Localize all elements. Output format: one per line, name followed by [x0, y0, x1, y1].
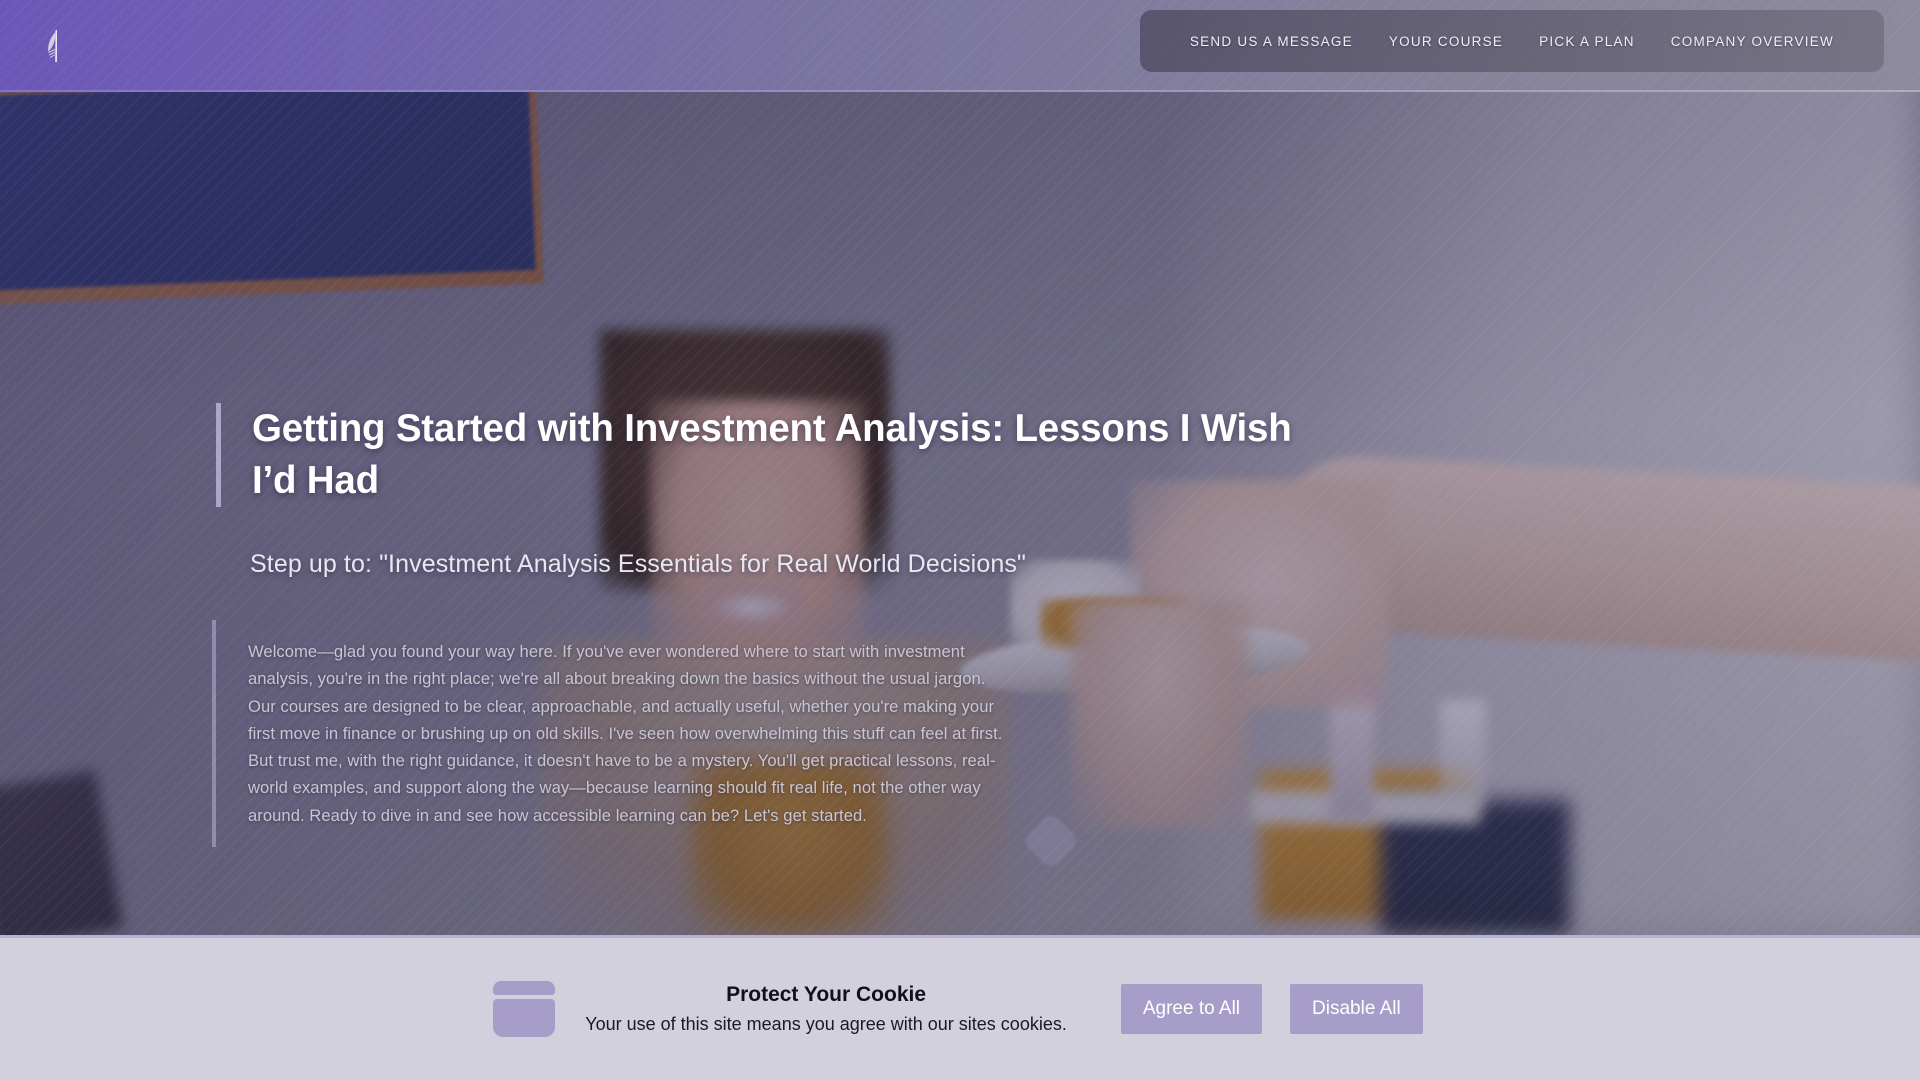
cookie-jar-icon	[493, 981, 555, 1037]
nav-link-pick-a-plan[interactable]: PICK A PLAN	[1521, 34, 1653, 49]
disable-all-button[interactable]: Disable All	[1290, 984, 1423, 1034]
hero-content: Getting Started with Investment Analysis…	[0, 0, 1920, 935]
quill-logo-icon[interactable]	[28, 22, 76, 70]
hero-title-container: Getting Started with Investment Analysis…	[216, 403, 1336, 507]
agree-to-all-button[interactable]: Agree to All	[1121, 984, 1262, 1034]
nav-link-your-course[interactable]: YOUR COURSE	[1371, 34, 1521, 49]
cookie-consent-banner: Protect Your Cookie Your use of this sit…	[0, 935, 1920, 1080]
nav-link-send-us-a-message[interactable]: SEND US A MESSAGE	[1172, 34, 1371, 49]
header-bottom-rule	[0, 90, 1920, 92]
cookie-banner-text: Protect Your Cookie Your use of this sit…	[585, 979, 1067, 1039]
cookie-jar-body	[493, 999, 555, 1037]
site-header: SEND US A MESSAGE YOUR COURSE PICK A PLA…	[0, 0, 1920, 92]
nav-link-company-overview[interactable]: COMPANY OVERVIEW	[1653, 34, 1852, 49]
hero-body-container: Welcome—glad you found your way here. If…	[212, 620, 1012, 847]
cookie-banner-description: Your use of this site means you agree wi…	[585, 1010, 1067, 1039]
cookie-banner-inner: Protect Your Cookie Your use of this sit…	[493, 979, 1422, 1039]
hero-subtitle: Step up to: "Investment Analysis Essenti…	[250, 550, 1450, 579]
main-navigation[interactable]: SEND US A MESSAGE YOUR COURSE PICK A PLA…	[1140, 10, 1884, 72]
page-title: Getting Started with Investment Analysis…	[252, 403, 1336, 507]
cookie-banner-title: Protect Your Cookie	[726, 979, 926, 1011]
cookie-jar-lid	[493, 981, 555, 995]
hero-body-text: Welcome—glad you found your way here. If…	[248, 638, 1012, 829]
